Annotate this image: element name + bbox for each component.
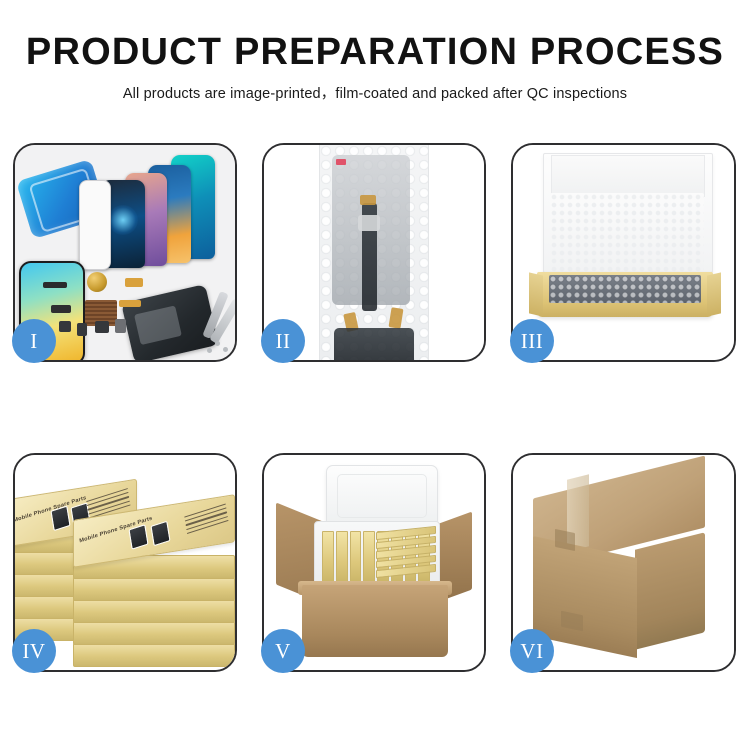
- box-label-phone-1: [128, 524, 148, 550]
- foam-padding-sheet: [550, 193, 704, 277]
- step-panel-5: V: [262, 453, 486, 672]
- retail-boxes-angled: [376, 526, 436, 578]
- box-layer: [73, 577, 235, 601]
- screw-1: [215, 341, 220, 346]
- process-steps-grid: I II III: [13, 143, 736, 672]
- step-panel-3: III: [511, 143, 736, 362]
- step-panel-6: VI: [511, 453, 736, 672]
- red-label-tag: [336, 159, 346, 165]
- small-component-4: [115, 319, 126, 333]
- phone-screen-white: [79, 180, 111, 270]
- step-badge-3: III: [510, 319, 554, 363]
- flex-cable-2: [119, 300, 141, 307]
- step-badge-4: IV: [12, 629, 56, 673]
- page-header: PRODUCT PREPARATION PROCESS All products…: [0, 0, 750, 103]
- speaker-component-icon: [87, 272, 107, 292]
- styrofoam-lid: [326, 465, 438, 527]
- page-title: PRODUCT PREPARATION PROCESS: [0, 33, 750, 73]
- box-stack-right: Mobile Phone Spare Parts: [73, 507, 233, 665]
- box-layer: [73, 643, 235, 667]
- box-lid-flap: [551, 155, 705, 197]
- step-badge-5: V: [261, 629, 305, 673]
- step-panel-2: II: [262, 143, 486, 362]
- box-label-lines: [184, 504, 230, 542]
- step-badge-6: VI: [510, 629, 554, 673]
- step-badge-2: II: [261, 319, 305, 363]
- carton-body: [302, 585, 448, 657]
- tape-piece-3: [389, 307, 404, 329]
- earpiece-component: [43, 282, 67, 288]
- box-layer: [73, 621, 235, 645]
- carton-side-face: [635, 532, 705, 649]
- wrapped-parts-in-tray: [549, 275, 701, 303]
- step-badge-1: I: [12, 319, 56, 363]
- box-label-phone-1: [50, 506, 70, 532]
- phone-screen-fan: [87, 153, 235, 268]
- small-component-3: [95, 321, 109, 333]
- cable-connector: [358, 215, 380, 231]
- step-panel-1: I: [13, 143, 237, 362]
- step-panel-4: Mobile Phone Spare Parts Mobile Phone Sp…: [13, 453, 237, 672]
- box-layer: [73, 599, 235, 623]
- box-label-phone-2: [150, 521, 170, 547]
- bottom-components: [334, 328, 414, 360]
- screw-3: [207, 348, 212, 353]
- flex-cable-3: [51, 305, 71, 313]
- bubble-wrap-sheet: [319, 145, 429, 360]
- page-subtitle: All products are image-printed，film-coat…: [0, 82, 750, 103]
- small-component-1: [59, 321, 71, 332]
- tape-piece-1: [360, 195, 376, 205]
- phone-back-housing: [121, 284, 219, 360]
- screw-2: [223, 347, 228, 352]
- flex-cable-1: [125, 278, 143, 287]
- small-component-2: [77, 323, 87, 336]
